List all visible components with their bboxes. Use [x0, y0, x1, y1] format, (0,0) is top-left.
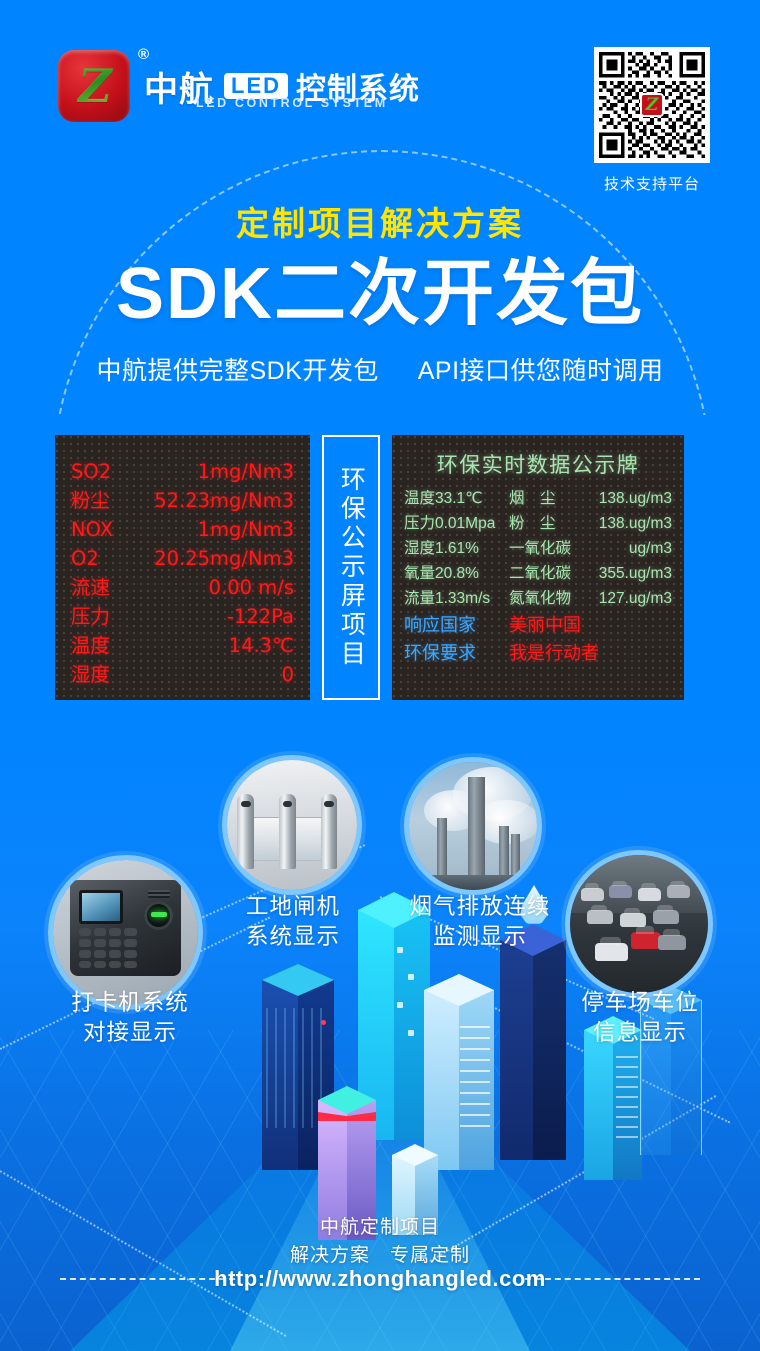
- registered-trademark-icon: ®: [138, 46, 149, 63]
- showcase-label-line1: 工地闸机: [198, 892, 388, 922]
- led-cell-left: 压力0.01Mpa: [404, 511, 509, 536]
- showcase-label-line1: 打卡机系统: [30, 988, 230, 1018]
- hero-subtitle-right: API接口供您随时调用: [418, 357, 664, 385]
- led-row-label: NOX: [71, 515, 113, 544]
- footer-website-url[interactable]: http://www.zhonghangled.com: [0, 1266, 760, 1292]
- led-panel-right: 环保实时数据公示牌 温度33.1℃ 烟 尘 138.ug/m3 压力0.01Mp…: [392, 435, 684, 700]
- led-row: O2 20.25mg/Nm3: [71, 544, 294, 573]
- poster-root: Z ® 中航 LED 控制系统 LED CONTROL SYSTEM: [0, 0, 760, 1351]
- showcase-label-parking: 停车场车位 信息显示: [545, 988, 735, 1048]
- led-row: SO2 1mg/Nm3: [71, 457, 294, 486]
- showcase-label-line2: 信息显示: [545, 1018, 735, 1048]
- led-row: NOX 1mg/Nm3: [71, 515, 294, 544]
- showcase-label-line2: 监测显示: [385, 922, 575, 952]
- led-slogan-label: 响应国家: [404, 611, 509, 639]
- footer-line-1: 中航定制项目: [0, 1212, 760, 1239]
- showcase-label-line2: 对接显示: [30, 1018, 230, 1048]
- led-slogan-row: 响应国家 美丽中国: [404, 611, 672, 639]
- led-row: 温度33.1℃ 烟 尘 138.ug/m3: [404, 486, 672, 511]
- led-row: 氧量20.8% 二氧化碳 355.ug/m3: [404, 561, 672, 586]
- led-row: 流速 0.00 m/s: [71, 573, 294, 602]
- page-title: SDK二次开发包: [0, 257, 760, 333]
- led-slogan-value: 美丽中国: [509, 611, 672, 639]
- led-row: 压力 -122Pa: [71, 602, 294, 631]
- led-cell-left: 氧量20.8%: [404, 561, 509, 586]
- led-row-value: 52.23mg/Nm3: [154, 486, 294, 515]
- led-cell-left: 温度33.1℃: [404, 486, 509, 511]
- hero-subtitle: 中航提供完整SDK开发包 API接口供您随时调用: [0, 351, 760, 387]
- led-row: 湿度 0: [71, 660, 294, 689]
- led-cell-mid: 烟 尘: [509, 486, 587, 511]
- led-row-value: 1mg/Nm3: [198, 515, 294, 544]
- qr-section: Z 技术支持平台: [594, 47, 710, 194]
- hero-section: 定制项目解决方案 SDK二次开发包 中航提供完整SDK开发包 API接口供您随时…: [0, 205, 760, 387]
- led-row-value: 0.00 m/s: [209, 573, 294, 602]
- led-row-value: 14.3℃: [229, 631, 294, 660]
- led-cell-value: 138.ug/m3: [587, 511, 672, 536]
- smokestack-photo: [404, 757, 542, 895]
- showcase-label-line1: 烟气排放连续: [385, 892, 575, 922]
- showcase-label-attendance: 打卡机系统 对接显示: [30, 988, 230, 1048]
- led-cell-mid: 粉 尘: [509, 511, 587, 536]
- led-cell-value: 355.ug/m3: [587, 561, 672, 586]
- led-cell-mid: 二氧化碳: [509, 561, 587, 586]
- attendance-machine-photo: [48, 855, 203, 1010]
- footer-line-2: 解决方案 专属定制: [0, 1240, 760, 1267]
- led-row-value: 20.25mg/Nm3: [154, 544, 294, 573]
- logo-letter: Z: [67, 59, 121, 113]
- led-cell-left: 流量1.33m/s: [404, 586, 509, 611]
- led-row-label: SO2: [71, 457, 111, 486]
- led-row: 粉尘 52.23mg/Nm3: [71, 486, 294, 515]
- led-row-label: 压力: [71, 602, 110, 631]
- led-row-label: 湿度: [71, 660, 110, 689]
- led-row-label: 温度: [71, 631, 110, 660]
- showcase-label-smokestack: 烟气排放连续 监测显示: [385, 892, 575, 952]
- led-panel-left: SO2 1mg/Nm3 粉尘 52.23mg/Nm3 NOX 1mg/Nm3 O…: [55, 435, 310, 700]
- hero-tagline: 定制项目解决方案: [0, 205, 760, 243]
- building-right-slim: [584, 1030, 642, 1180]
- hero-subtitle-left: 中航提供完整SDK开发包: [96, 357, 378, 385]
- qr-code-icon[interactable]: Z: [594, 47, 710, 163]
- brand-logo: Z ® 中航 LED 控制系统: [58, 50, 420, 122]
- led-panel-middle: 环保公示屏项目: [322, 435, 380, 700]
- led-cell-value: 138.ug/m3: [587, 486, 672, 511]
- company-logo-icon: Z ®: [58, 50, 130, 122]
- led-row: 压力0.01Mpa 粉 尘 138.ug/m3: [404, 511, 672, 536]
- vertical-project-label: 环保公示屏项目: [337, 466, 366, 669]
- led-row-label: 粉尘: [71, 486, 110, 515]
- showcase-label-turnstile: 工地闸机 系统显示: [198, 892, 388, 952]
- turnstile-gate-photo: [222, 755, 362, 895]
- showcase-label-line2: 系统显示: [198, 922, 388, 952]
- led-slogan-value: 我是行动者: [509, 639, 672, 667]
- led-slogan-label: 环保要求: [404, 639, 509, 667]
- led-cell-value: ug/m3: [587, 536, 672, 561]
- building-tower-droplet: [500, 940, 566, 1160]
- brand-name-en: LED CONTROL SYSTEM: [196, 96, 388, 110]
- led-row-label: O2: [71, 544, 99, 573]
- led-cell-value: 127.ug/m3: [587, 586, 672, 611]
- led-row-value: -122Pa: [227, 602, 294, 631]
- led-row-value: 0: [282, 660, 294, 689]
- led-cell-left: 湿度1.61%: [404, 536, 509, 561]
- qr-center-logo-icon: Z: [640, 93, 664, 117]
- led-row-label: 流速: [71, 573, 110, 602]
- led-row: 流量1.33m/s 氮氧化物 127.ug/m3: [404, 586, 672, 611]
- led-row: 湿度1.61% 一氧化碳 ug/m3: [404, 536, 672, 561]
- led-display-group: SO2 1mg/Nm3 粉尘 52.23mg/Nm3 NOX 1mg/Nm3 O…: [0, 435, 760, 700]
- led-row: 温度 14.3℃: [71, 631, 294, 660]
- led-slogan-row: 环保要求 我是行动者: [404, 639, 672, 667]
- building-mid-light: [424, 990, 494, 1170]
- led-cell-mid: 一氧化碳: [509, 536, 587, 561]
- led-panel-right-title: 环保实时数据公示牌: [404, 449, 672, 479]
- showcase-label-line1: 停车场车位: [545, 988, 735, 1018]
- parking-lot-photo: [565, 850, 713, 998]
- led-row-value: 1mg/Nm3: [198, 457, 294, 486]
- qr-caption: 技术支持平台: [594, 173, 710, 194]
- led-cell-mid: 氮氧化物: [509, 586, 587, 611]
